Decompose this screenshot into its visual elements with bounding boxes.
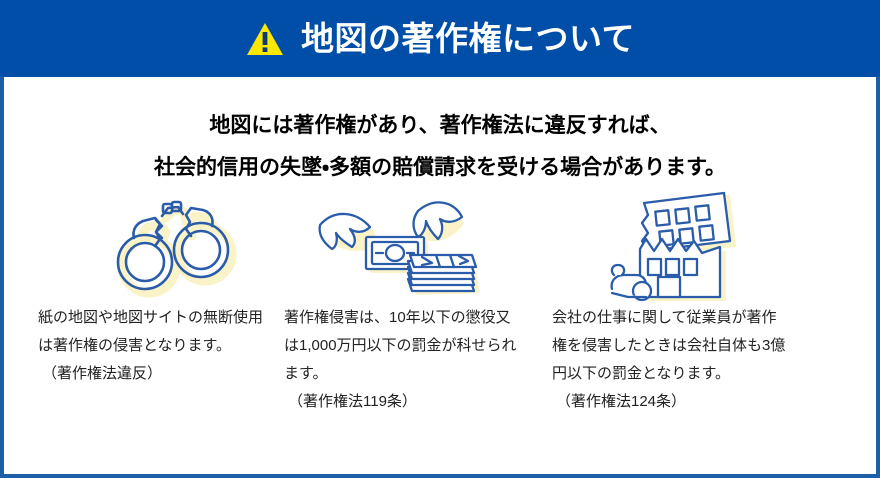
subtitle-block: 地図には著作権があり、著作権法に違反すれば、 社会的信用の失墜・多額の賠償請求を… — [4, 105, 876, 189]
caption-line: ます。 — [284, 360, 540, 388]
header-banner: 地図の著作権について — [0, 0, 880, 77]
columns-container: 紙の地図や地図サイトの無断使用 は著作権の侵害となります。 （著作権法違反） — [4, 192, 876, 462]
subtitle-line-2: 社会的信用の失墜・多額の賠償請求を受ける場合があります。 — [4, 147, 876, 189]
column-corporate: 会社の仕事に関して従業員が著作 権を侵害したときは会社自体も3億 円以下の罰金と… — [552, 192, 876, 462]
caption-line: （著作権法119条） — [284, 388, 540, 416]
warning-triangle-icon — [245, 21, 285, 57]
caption-line: （著作権法違反） — [38, 360, 264, 388]
caption-line: は1,000万円以下の罰金が科せられ — [284, 332, 540, 360]
caption-line: 紙の地図や地図サイトの無断使用 — [38, 304, 264, 332]
icon-container-building — [552, 192, 860, 304]
icon-container-flying-money — [284, 192, 540, 304]
caption-line: 権を侵害したときは会社自体も3億 — [552, 332, 860, 360]
column-handcuffs: 紙の地図や地図サイトの無断使用 は著作権の侵害となります。 （著作権法違反） — [4, 192, 276, 462]
caption-line: （著作権法124条） — [552, 388, 860, 416]
copyright-notice-infographic: 地図の著作権について 地図には著作権があり、著作権法に違反すれば、 社会的信用の… — [0, 0, 880, 478]
caption-line: は著作権の侵害となります。 — [38, 332, 264, 360]
page-title: 地図の著作権について — [301, 22, 635, 55]
caption-line: 会社の仕事に関して従業員が著作 — [552, 304, 860, 332]
caption-line: 著作権侵害は、10年以下の懲役又 — [284, 304, 540, 332]
caption-line: 円以下の罰金となります。 — [552, 360, 860, 388]
icon-container-handcuffs — [38, 192, 264, 304]
body-frame: 地図には著作権があり、著作権法に違反すれば、 社会的信用の失墜・多額の賠償請求を… — [0, 77, 880, 478]
collapsing-building-icon — [608, 189, 758, 307]
subtitle-line-1: 地図には著作権があり、著作権法に違反すれば、 — [4, 105, 876, 147]
column-fines: 著作権侵害は、10年以下の懲役又 は1,000万円以下の罰金が科せられ ます。 … — [276, 192, 552, 462]
flying-money-icon — [304, 193, 489, 303]
caption-fines: 著作権侵害は、10年以下の懲役又 は1,000万円以下の罰金が科せられ ます。 … — [284, 304, 540, 416]
caption-handcuffs: 紙の地図や地図サイトの無断使用 は著作権の侵害となります。 （著作権法違反） — [38, 304, 264, 388]
caption-corporate: 会社の仕事に関して従業員が著作 権を侵害したときは会社自体も3億 円以下の罰金と… — [552, 304, 860, 416]
handcuffs-icon — [100, 196, 250, 301]
